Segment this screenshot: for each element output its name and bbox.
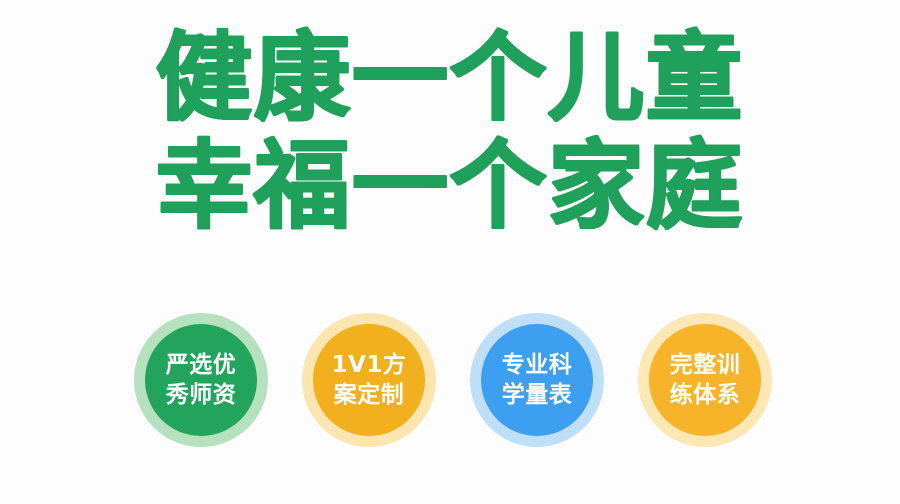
badge-label-teachers-line-2: 秀师资	[153, 380, 249, 410]
badge-label-teachers-line-1: 严选优	[153, 350, 249, 380]
headline-line-2: 幸福一个家庭	[0, 130, 900, 242]
badge-label-scale-line-1: 专业科	[489, 350, 585, 380]
headline-line-1: 健康一个儿童	[0, 22, 900, 134]
feature-badge-scale[interactable]: 专业科 学量表	[470, 313, 604, 447]
badge-label-scale: 专业科 学量表	[489, 350, 585, 410]
badge-label-plan-line-2: 案定制	[321, 380, 417, 410]
badge-label-plan: 1V1方 案定制	[321, 350, 417, 410]
promo-poster: 健康一个儿童 幸福一个家庭 严选优 秀师资 1V1方 案定制 专业科 学	[0, 0, 900, 504]
feature-badge-row: 严选优 秀师资 1V1方 案定制 专业科 学量表 完整训	[0, 313, 900, 463]
badge-label-training-line-2: 练体系	[657, 380, 753, 410]
feature-badge-training[interactable]: 完整训 练体系	[638, 313, 772, 447]
badge-label-training: 完整训 练体系	[657, 350, 753, 410]
badge-label-scale-line-2: 学量表	[489, 380, 585, 410]
badge-label-training-line-1: 完整训	[657, 350, 753, 380]
badge-label-teachers: 严选优 秀师资	[153, 350, 249, 410]
headline-block: 健康一个儿童 幸福一个家庭	[0, 22, 900, 242]
feature-badge-teachers[interactable]: 严选优 秀师资	[134, 313, 268, 447]
feature-badge-plan[interactable]: 1V1方 案定制	[302, 313, 436, 447]
badge-label-plan-line-1: 1V1方	[321, 350, 417, 380]
